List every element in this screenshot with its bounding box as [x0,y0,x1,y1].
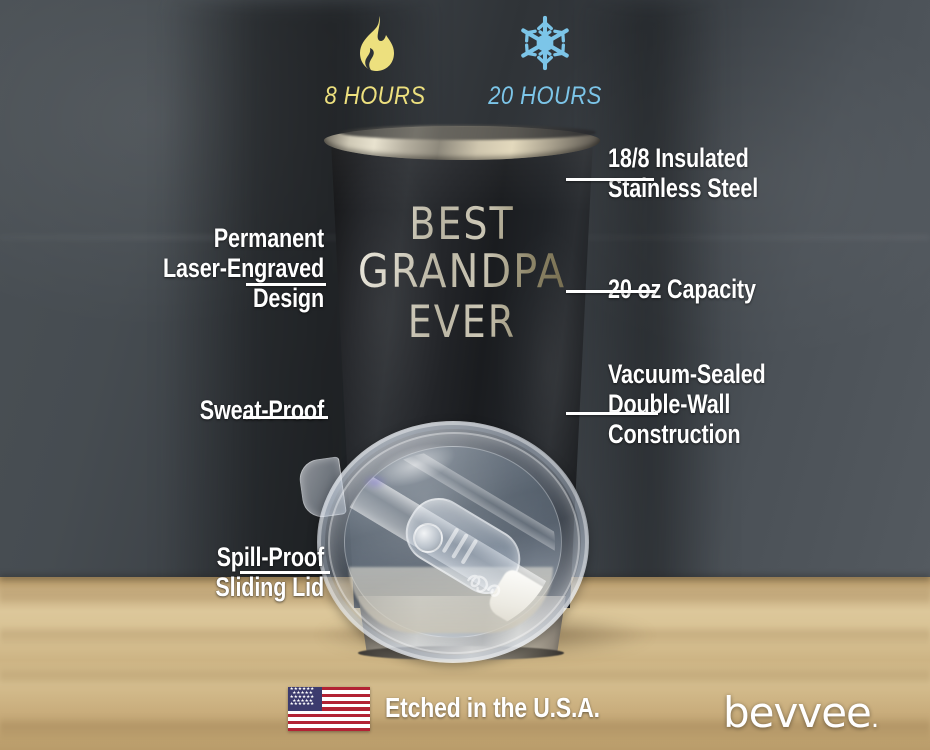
leader-line-sweat-proof [243,416,328,419]
callout-line: Vacuum-Sealed [608,360,845,390]
engraving-line-3: EVER [344,302,580,343]
callout-vacuum-sealed: Vacuum-Sealed Double-Wall Construction [608,360,845,450]
tumbler-rim-interior [340,125,596,140]
infographic-canvas: 8 HOURS [0,0,930,750]
hot-retention-badge: 8 HOURS [300,14,450,111]
callout-line: Sliding Lid [87,573,324,603]
callout-line: Sweat-Proof [87,396,324,426]
leader-line-capacity [566,290,656,293]
callout-line: Construction [608,420,845,450]
leader-line-laser-engraved [246,283,326,286]
usa-flag-icon: ★★★★★★ ★★★★★ ★★★★★★ ★★★★★ ★★★★★★ [288,687,370,731]
lid-chromatic-flare [357,471,393,493]
engraving-line-1: BEST [344,204,580,245]
callout-stainless-steel: 18/8 Insulated Stainless Steel [608,144,845,204]
brand-dot: . [871,704,878,734]
leader-line-vacuum-sealed [566,412,658,415]
leader-line-stainless-steel [566,178,654,181]
callout-laser-engraved: Permanent Laser-Engraved Design [87,224,324,314]
flame-icon [300,14,450,77]
callout-line: 18/8 Insulated [608,144,845,174]
callout-line: Permanent [87,224,324,254]
cold-hours-label: 20 HOURS [470,82,620,111]
callout-line: Laser-Engraved [87,254,324,284]
leader-line-spill-proof-lid [240,571,330,574]
flag-canton: ★★★★★★ ★★★★★ ★★★★★★ ★★★★★ ★★★★★★ [288,687,322,711]
cold-retention-badge: 20 HOURS [460,14,630,111]
tumbler-engraving: BEST GRANDPA EVER [344,204,580,337]
sliding-lid [301,417,593,665]
callout-line: Design [87,284,324,314]
hot-hours-label: 8 HOURS [309,82,441,111]
bevvee-logo: bevvee. [723,688,878,737]
etched-in-usa-text: Etched in the U.S.A. [385,692,600,724]
lid-slider-knob [413,523,443,553]
engraving-line-2: GRANDPA [344,251,580,294]
callout-sweat-proof: Sweat-Proof [87,396,324,426]
callout-line: Spill-Proof [87,543,324,573]
thermal-performance-row: 8 HOURS [300,14,630,109]
callout-line: Double-Wall [608,390,845,420]
brand-name: bevvee [723,688,871,737]
snowflake-icon [460,14,630,77]
